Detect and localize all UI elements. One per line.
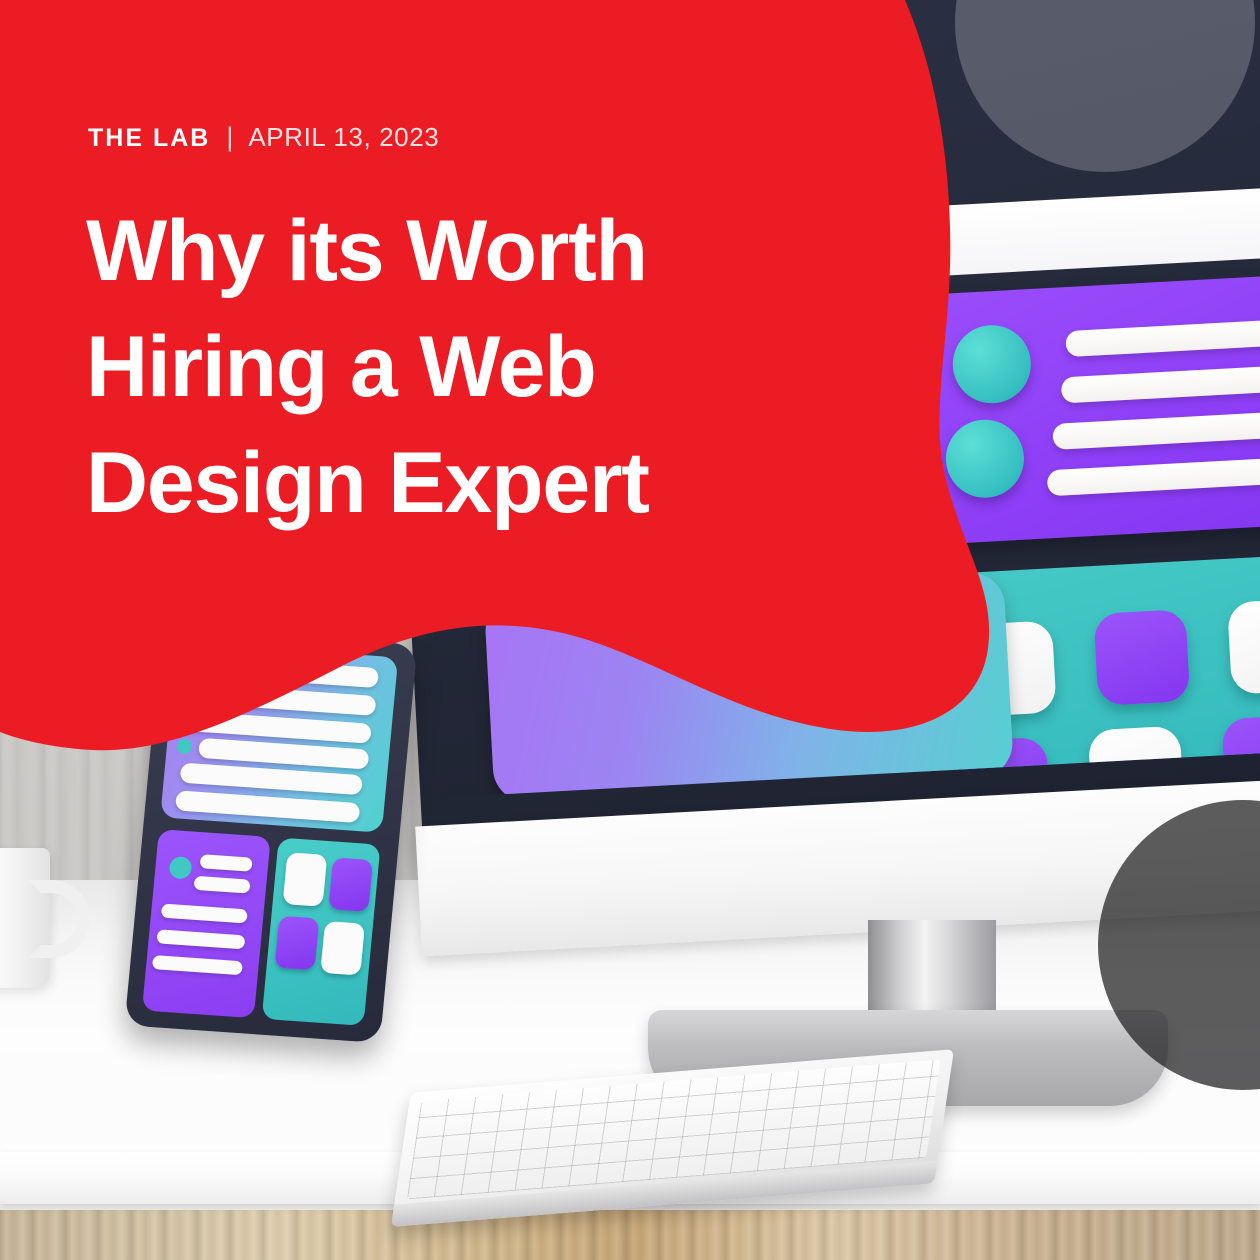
page-title: Why its Worth Hiring a Web Design Expert (86, 193, 726, 541)
headline-line-3: Design Expert (86, 425, 726, 541)
publish-date: APRIL 13, 2023 (248, 122, 439, 153)
text-content: THE LAB | APRIL 13, 2023 Why its Worth H… (0, 0, 1260, 1260)
kicker-separator: | (226, 122, 233, 153)
headline-line-1: Why its Worth (86, 193, 726, 309)
brand-label: THE LAB (88, 124, 210, 153)
social-card-canvas: THE LAB | APRIL 13, 2023 Why its Worth H… (0, 0, 1260, 1260)
kicker-line: THE LAB | APRIL 13, 2023 (88, 122, 439, 153)
headline-line-2: Hiring a Web (86, 309, 726, 425)
